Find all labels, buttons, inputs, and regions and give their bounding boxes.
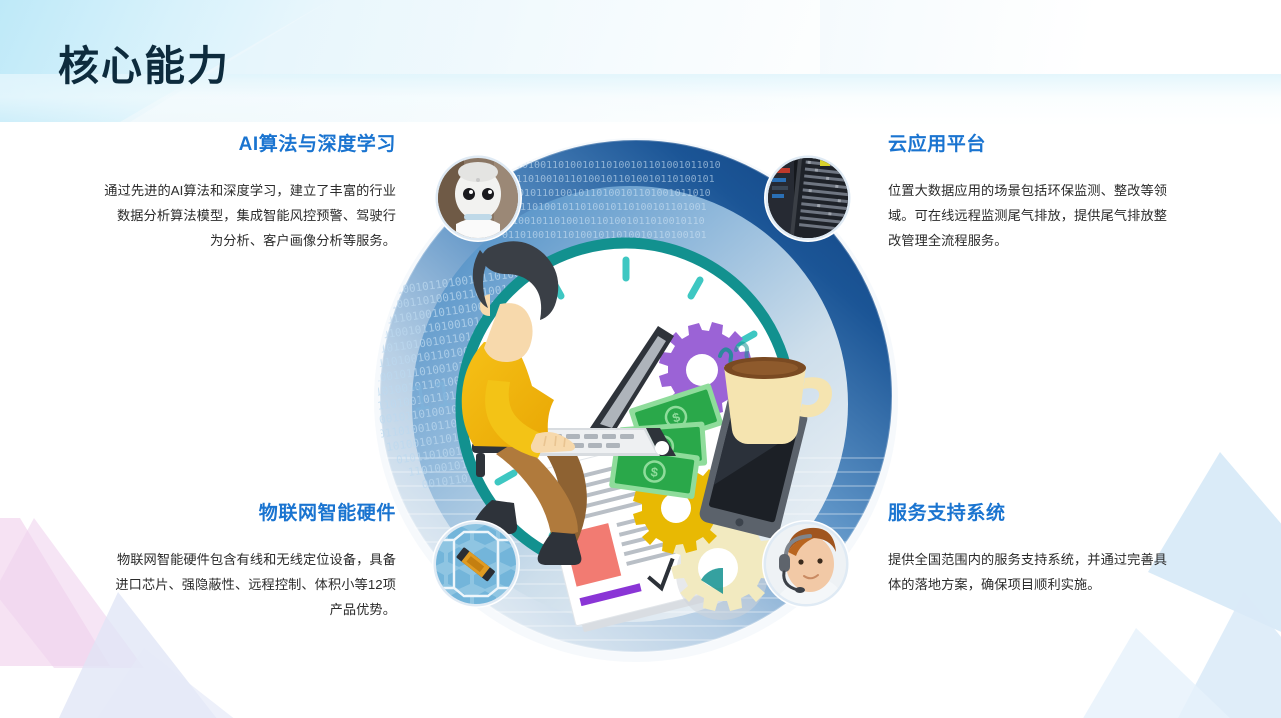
page-title: 核心能力	[58, 46, 230, 87]
svg-text:100101101001011010010110100101: 1001011010010110100101101001011010	[506, 188, 711, 199]
svg-text:101001011010010110100101101001: 1010010110100101101001011010010110	[500, 216, 705, 227]
capability-body-service: 提供全国范围内的服务支持系统，并通过完善具体的落地方案，确保项目顺利实施。	[888, 547, 1180, 598]
capability-body-iot: 物联网智能硬件包含有线和无线定位设备，具备进口芯片、强隐蔽性、远程控制、体积小等…	[104, 547, 396, 623]
svg-text:010110100101101001011010010110: 0101101001011010010110100101101001	[502, 202, 707, 213]
svg-text:101001101001011010010110100101: 1010011010010110100101101001011010	[516, 160, 721, 171]
decor-triangle-lavender-2	[96, 648, 236, 718]
core-capability-illustration: 0110010110100101101001 10100110100101101…	[368, 128, 904, 664]
svg-text:011010010110100101101001011010: 0110100101101001011010010110100101	[510, 174, 715, 185]
decor-triangle-bottom-right-3	[1082, 628, 1232, 718]
capability-body-cloud: 位置大数据应用的场景包括环保监测、整改等领域。可在线远程监测尾气排放，提供尾气排…	[888, 178, 1180, 254]
decor-triangle-pink	[0, 518, 110, 718]
decor-triangle-bottom-right-2	[1178, 592, 1281, 718]
capability-block-ai: AI算法与深度学习 通过先进的AI算法和深度学习，建立了丰富的行业数据分析算法模…	[104, 134, 396, 254]
capability-heading-service: 服务支持系统	[888, 503, 1180, 526]
photo-badge-agent	[762, 520, 850, 608]
slide-canvas: 核心能力	[0, 0, 1281, 718]
capability-heading-cloud: 云应用平台	[888, 134, 1180, 157]
photo-badge-robot	[434, 154, 522, 242]
capability-block-service: 服务支持系统 提供全国范围内的服务支持系统，并通过完善具体的落地方案，确保项目顺…	[888, 503, 1180, 597]
capability-body-ai: 通过先进的AI算法和深度学习，建立了丰富的行业数据分析算法模型，集成智能风控预警…	[104, 178, 396, 254]
capability-heading-iot: 物联网智能硬件	[104, 503, 396, 526]
capability-block-cloud: 云应用平台 位置大数据应用的场景包括环保监测、整改等领域。可在线远程监测尾气排放…	[888, 134, 1180, 254]
circuit-chip-icon	[436, 524, 516, 604]
support-agent-icon	[766, 524, 846, 604]
photo-badge-chip	[432, 520, 520, 608]
capability-block-iot: 物联网智能硬件 物联网智能硬件包含有线和无线定位设备，具备进口芯片、强隐蔽性、远…	[104, 503, 396, 623]
capability-heading-ai: AI算法与深度学习	[104, 134, 396, 157]
